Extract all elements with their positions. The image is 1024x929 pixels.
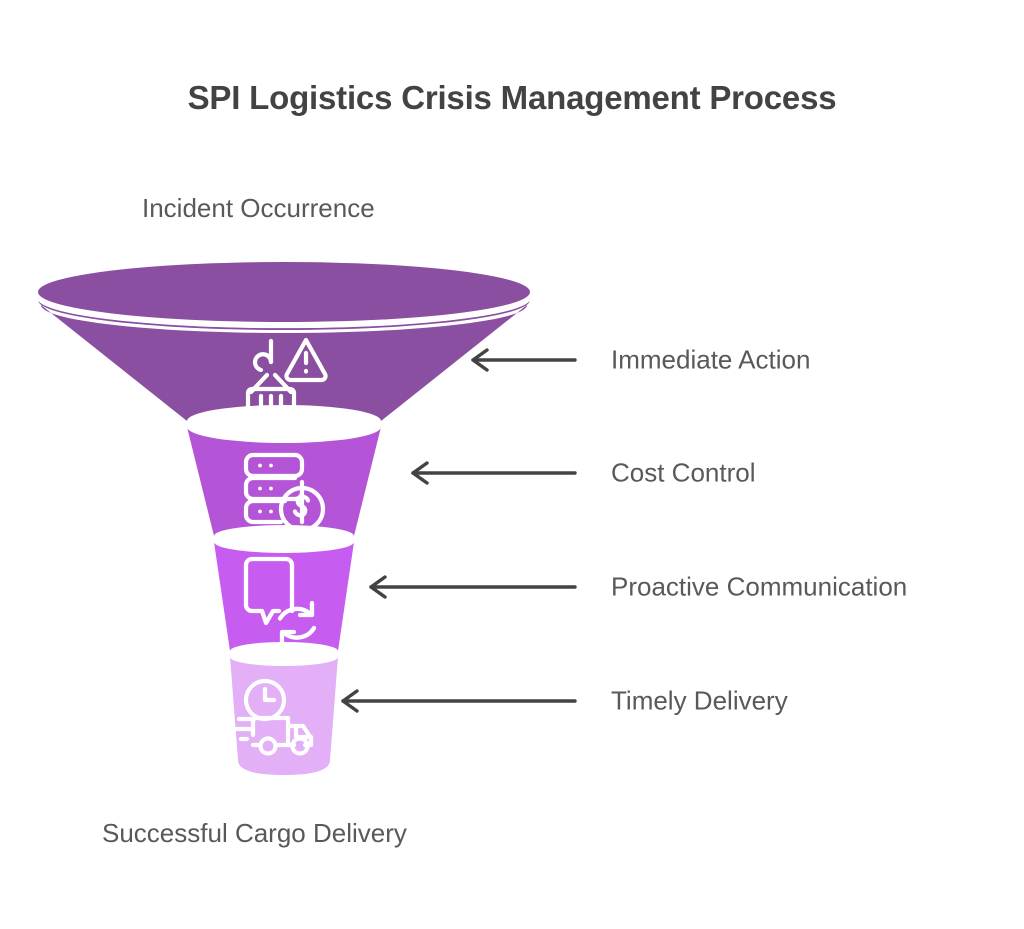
arrow-timely-delivery [343, 691, 575, 711]
arrow-cost-control [413, 463, 575, 483]
divider-1 [187, 424, 381, 440]
arrow-immediate-action [473, 350, 575, 370]
stage-label-immediate-action: Immediate Action [611, 344, 810, 375]
stage-label-cost-control: Cost Control [611, 457, 756, 488]
funnel-band-immediate-action-body[interactable] [41, 305, 527, 421]
stage-label-timely-delivery: Timely Delivery [611, 685, 788, 716]
funnel-diagram-canvas: SPI Logistics Crisis Management Process … [0, 0, 1024, 929]
funnel-graphic [0, 0, 1024, 929]
divider-2 [214, 539, 354, 550]
divider-3 [230, 654, 338, 663]
stage-label-proactive-communication: Proactive Communication [611, 571, 907, 602]
funnel-rim-ellipse [38, 262, 530, 322]
arrow-proactive-communication [371, 577, 575, 597]
